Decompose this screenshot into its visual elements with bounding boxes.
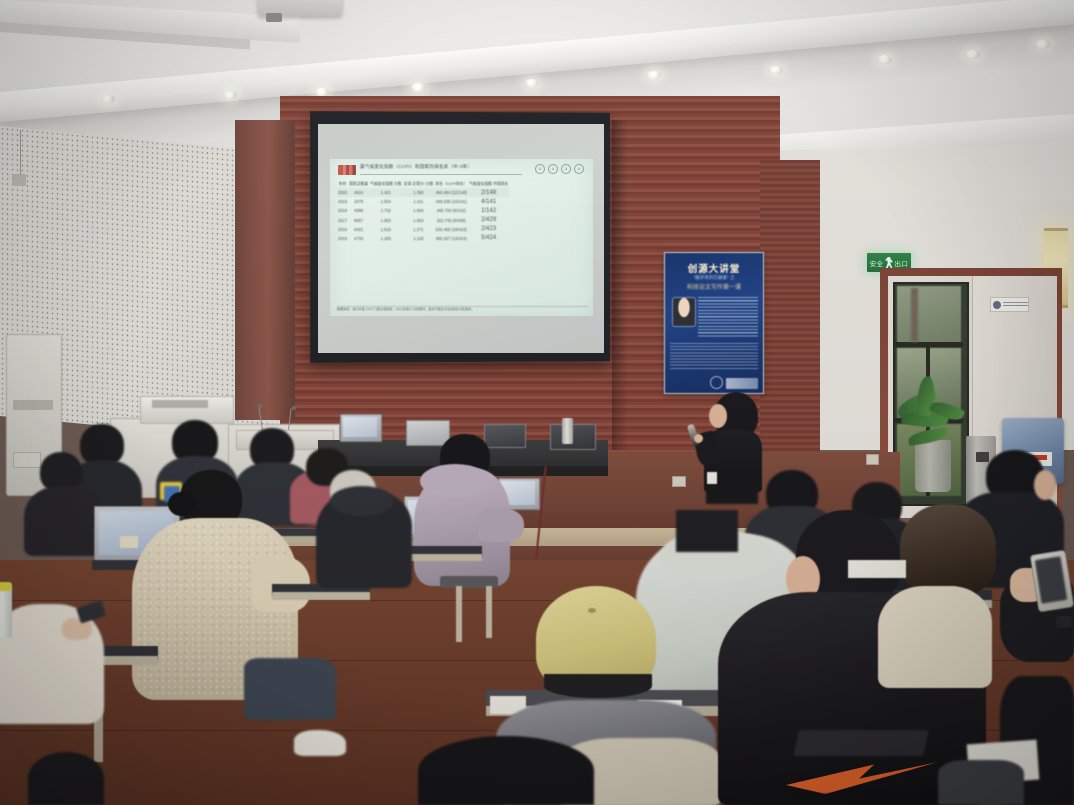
laptop-sticker: [120, 536, 138, 548]
slide-badge: ④: [574, 164, 584, 174]
slide-footnote: 数据来源：统计年鉴 CCPI 门类分类综合，2021年统计-分析期刊，发布于报文…: [337, 306, 588, 312]
chair-leg: [486, 586, 492, 638]
slide-badge: ③: [561, 164, 571, 174]
downlight-icon: [223, 91, 237, 99]
cell-countries: 9401: [348, 225, 369, 234]
projector-lens: [266, 13, 282, 22]
wood-wall-right-edge: [760, 160, 820, 460]
running-man-icon: [885, 257, 893, 269]
table-row: 2019 2079 1.504 1.411 348.535 (10/141) 4…: [337, 197, 509, 206]
monitor: [550, 424, 596, 450]
microphone-head-icon: [258, 404, 262, 408]
col-header: 国家总数量: [348, 181, 369, 188]
slide-badge: ①: [535, 164, 545, 174]
paper-sheet: [848, 560, 906, 578]
wood-wall-left-edge: [235, 120, 295, 420]
cell-countries: 4733: [348, 234, 369, 243]
col-header: 气候变化指数 分数: [369, 181, 402, 188]
audience-arm: [938, 760, 1024, 805]
wall-speaker: [12, 174, 26, 186]
downlight-icon: [101, 95, 115, 103]
cell-global: 1.411: [403, 197, 435, 206]
cell-index: 1.615: [369, 225, 402, 234]
lecture-hall-photo: 最气候变化指数（CCPI）和国家的排名表（中-3年） ① ② ③ ④ 年份 国家…: [0, 0, 1074, 805]
table-header-row: 年份 国家总数量 气候变化指数 分数 全球 总得分/ 分数 排名（CCPI排名）…: [337, 181, 509, 188]
cell-year: 2018: [337, 206, 348, 215]
exit-sign-left-text: 安全: [870, 258, 884, 268]
col-header: 年份: [337, 181, 348, 188]
monitor: [484, 424, 526, 448]
cell-year: 2020: [337, 188, 348, 197]
door-placard-logo-icon: [993, 301, 1001, 309]
cell-rank: 348.535 (10/141): [434, 197, 468, 206]
table-row: 2018 4088 1.732 1.694 465.700 (8/142) 1/…: [337, 206, 509, 215]
laptop-screen: [343, 417, 377, 437]
wall-poster: 创源大讲堂 "做学术的引路者" 之 科技论文写作第一课: [664, 252, 764, 394]
air-conditioner-panel: [13, 452, 41, 468]
downlight-icon: [411, 83, 426, 92]
cell-rank: 322.745 (8/428): [434, 216, 468, 225]
microphone-head-icon: [292, 406, 296, 410]
cell-cn-rank: 2/429: [468, 216, 509, 225]
slide-title: 最气候变化指数（CCPI）和国家的排名表（中-3年）: [360, 164, 472, 170]
cell-index: 1.283: [369, 234, 402, 243]
chair-leg: [456, 586, 462, 642]
downlight-icon: [769, 66, 783, 74]
cell-cn-rank: 2/423: [468, 225, 509, 234]
water-bottle: [0, 586, 12, 638]
cell-countries: 4088: [348, 206, 369, 215]
cell-cn-rank: 5/424: [468, 234, 509, 243]
cell-index: 1.421: [369, 188, 402, 197]
audience-head: [900, 504, 996, 596]
ceiling-cable: [20, 130, 21, 176]
cell-year: 2015: [337, 234, 348, 243]
nike-wordmark: [793, 730, 929, 756]
cell-year: 2016: [337, 225, 348, 234]
exit-sign-right-text: 出口: [895, 258, 909, 268]
audience-face: [1034, 470, 1056, 500]
wall-socket: [672, 476, 686, 487]
window-pane: [897, 286, 961, 344]
cell-index: 1.504: [369, 197, 402, 206]
audience-arm: [478, 508, 524, 542]
cell-global: 1.694: [403, 206, 435, 215]
monitor: [406, 420, 450, 446]
door-placard-text: [1003, 302, 1028, 308]
cell-rank: 460.464 (22/148): [434, 188, 468, 197]
downlight-icon: [315, 88, 329, 96]
audience-cream-top: [878, 586, 992, 688]
bottle-cap: [0, 582, 12, 591]
downlight-icon: [647, 71, 661, 79]
downlight-icon: [877, 55, 892, 64]
slide-title-rule: [360, 174, 522, 175]
wall-socket: [866, 454, 879, 465]
audience-head: [418, 736, 594, 805]
cell-index: 1.732: [369, 206, 402, 215]
cell-cn-rank: 4/141: [468, 197, 509, 206]
cell-countries: 2079: [348, 197, 369, 206]
audience-shoe: [294, 730, 346, 756]
air-conditioner-vent: [13, 400, 53, 410]
cap-brim: [544, 674, 652, 698]
cell-year: 2017: [337, 216, 348, 225]
table-row: 2020 4624 1.421 1.390 460.464 (22/148) 2…: [337, 188, 509, 197]
audience-jeans: [244, 658, 336, 720]
downlight-icon: [1035, 40, 1050, 49]
slide-logo-icon: [338, 165, 356, 175]
cell-rank: 465.700 (8/142): [434, 206, 468, 215]
audience-hood: [330, 486, 394, 516]
poster-institution-logo: [726, 378, 758, 389]
trash-bin-opening: [976, 452, 989, 462]
cell-index: 1.853: [369, 216, 402, 225]
table-row: 2015 4733 1.283 1.118 465.327 (13/424) 5…: [337, 234, 509, 243]
cell-countries: 9067: [348, 216, 369, 225]
poster-section-text: [670, 343, 758, 369]
cell-countries: 4624: [348, 188, 369, 197]
wall-corner-shadow: [612, 120, 628, 450]
presenter-face: [709, 404, 727, 428]
audience-hood: [420, 464, 490, 498]
audience-hair-bun: [168, 492, 194, 516]
desk-frame: [272, 592, 370, 600]
poster-bio-text: [698, 297, 758, 337]
cell-global: 1.271: [403, 225, 435, 234]
cell-rank: 465.327 (13/424): [434, 234, 468, 243]
cap-button-icon: [588, 608, 596, 613]
cell-global: 1.663: [403, 216, 435, 225]
presenter-paper: [707, 472, 717, 484]
cell-global: 1.390: [403, 188, 435, 197]
slide-header: 最气候变化指数（CCPI）和国家的排名表（中-3年） ① ② ③ ④: [336, 164, 587, 177]
table-row: 2016 9401 1.615 1.271 533.466 (19/423) 2…: [337, 225, 509, 234]
audience-body: [24, 486, 102, 556]
plant-pot: [915, 440, 951, 492]
presenter-hand: [694, 434, 703, 443]
poster-portrait-icon: [672, 297, 696, 327]
slide-data-table: 年份 国家总数量 气候变化指数 分数 全球 总得分/ 分数 排名（CCPI排名）…: [337, 181, 509, 243]
desk-frame: [404, 554, 482, 561]
downlight-icon: [525, 79, 539, 87]
poster-subheading-2: 科技论文写作第一课: [665, 282, 763, 291]
col-header: 气候变化指数 中国排名: [468, 181, 509, 188]
cell-cn-rank: 2/148: [468, 188, 509, 197]
printer-tray: [152, 400, 208, 408]
cell-year: 2019: [337, 197, 348, 206]
table-row: 2017 9067 1.853 1.663 322.745 (8/428) 2/…: [337, 216, 509, 225]
table-body: 2020 4624 1.421 1.390 460.464 (22/148) 2…: [337, 188, 509, 243]
audience-head: [676, 510, 738, 552]
cell-cn-rank: 1/142: [468, 206, 509, 215]
poster-heading: 创源大讲堂: [665, 261, 763, 275]
cell-global: 1.118: [403, 234, 435, 243]
door-placard: [990, 297, 1029, 312]
slide-badges: ① ② ③ ④: [535, 164, 584, 174]
projected-slide: 最气候变化指数（CCPI）和国家的排名表（中-3年） ① ② ③ ④ 年份 国家…: [330, 159, 593, 316]
cell-rank: 533.466 (19/423): [434, 225, 468, 234]
wristwatch: [1056, 616, 1072, 628]
col-header: 排名（CCPI排名）: [434, 181, 468, 188]
window-tree: [911, 288, 918, 342]
col-header: 全球 总得分/ 分数: [403, 181, 435, 188]
poster-subheading: "做学术的引路者" 之: [665, 275, 763, 281]
slide-badge: ②: [548, 164, 558, 174]
presenter-lower: [706, 486, 758, 504]
thermos-bottle: [562, 418, 573, 444]
downlight-icon: [965, 50, 980, 59]
audience-head: [28, 752, 104, 805]
poster-seal-icon: [710, 376, 723, 389]
